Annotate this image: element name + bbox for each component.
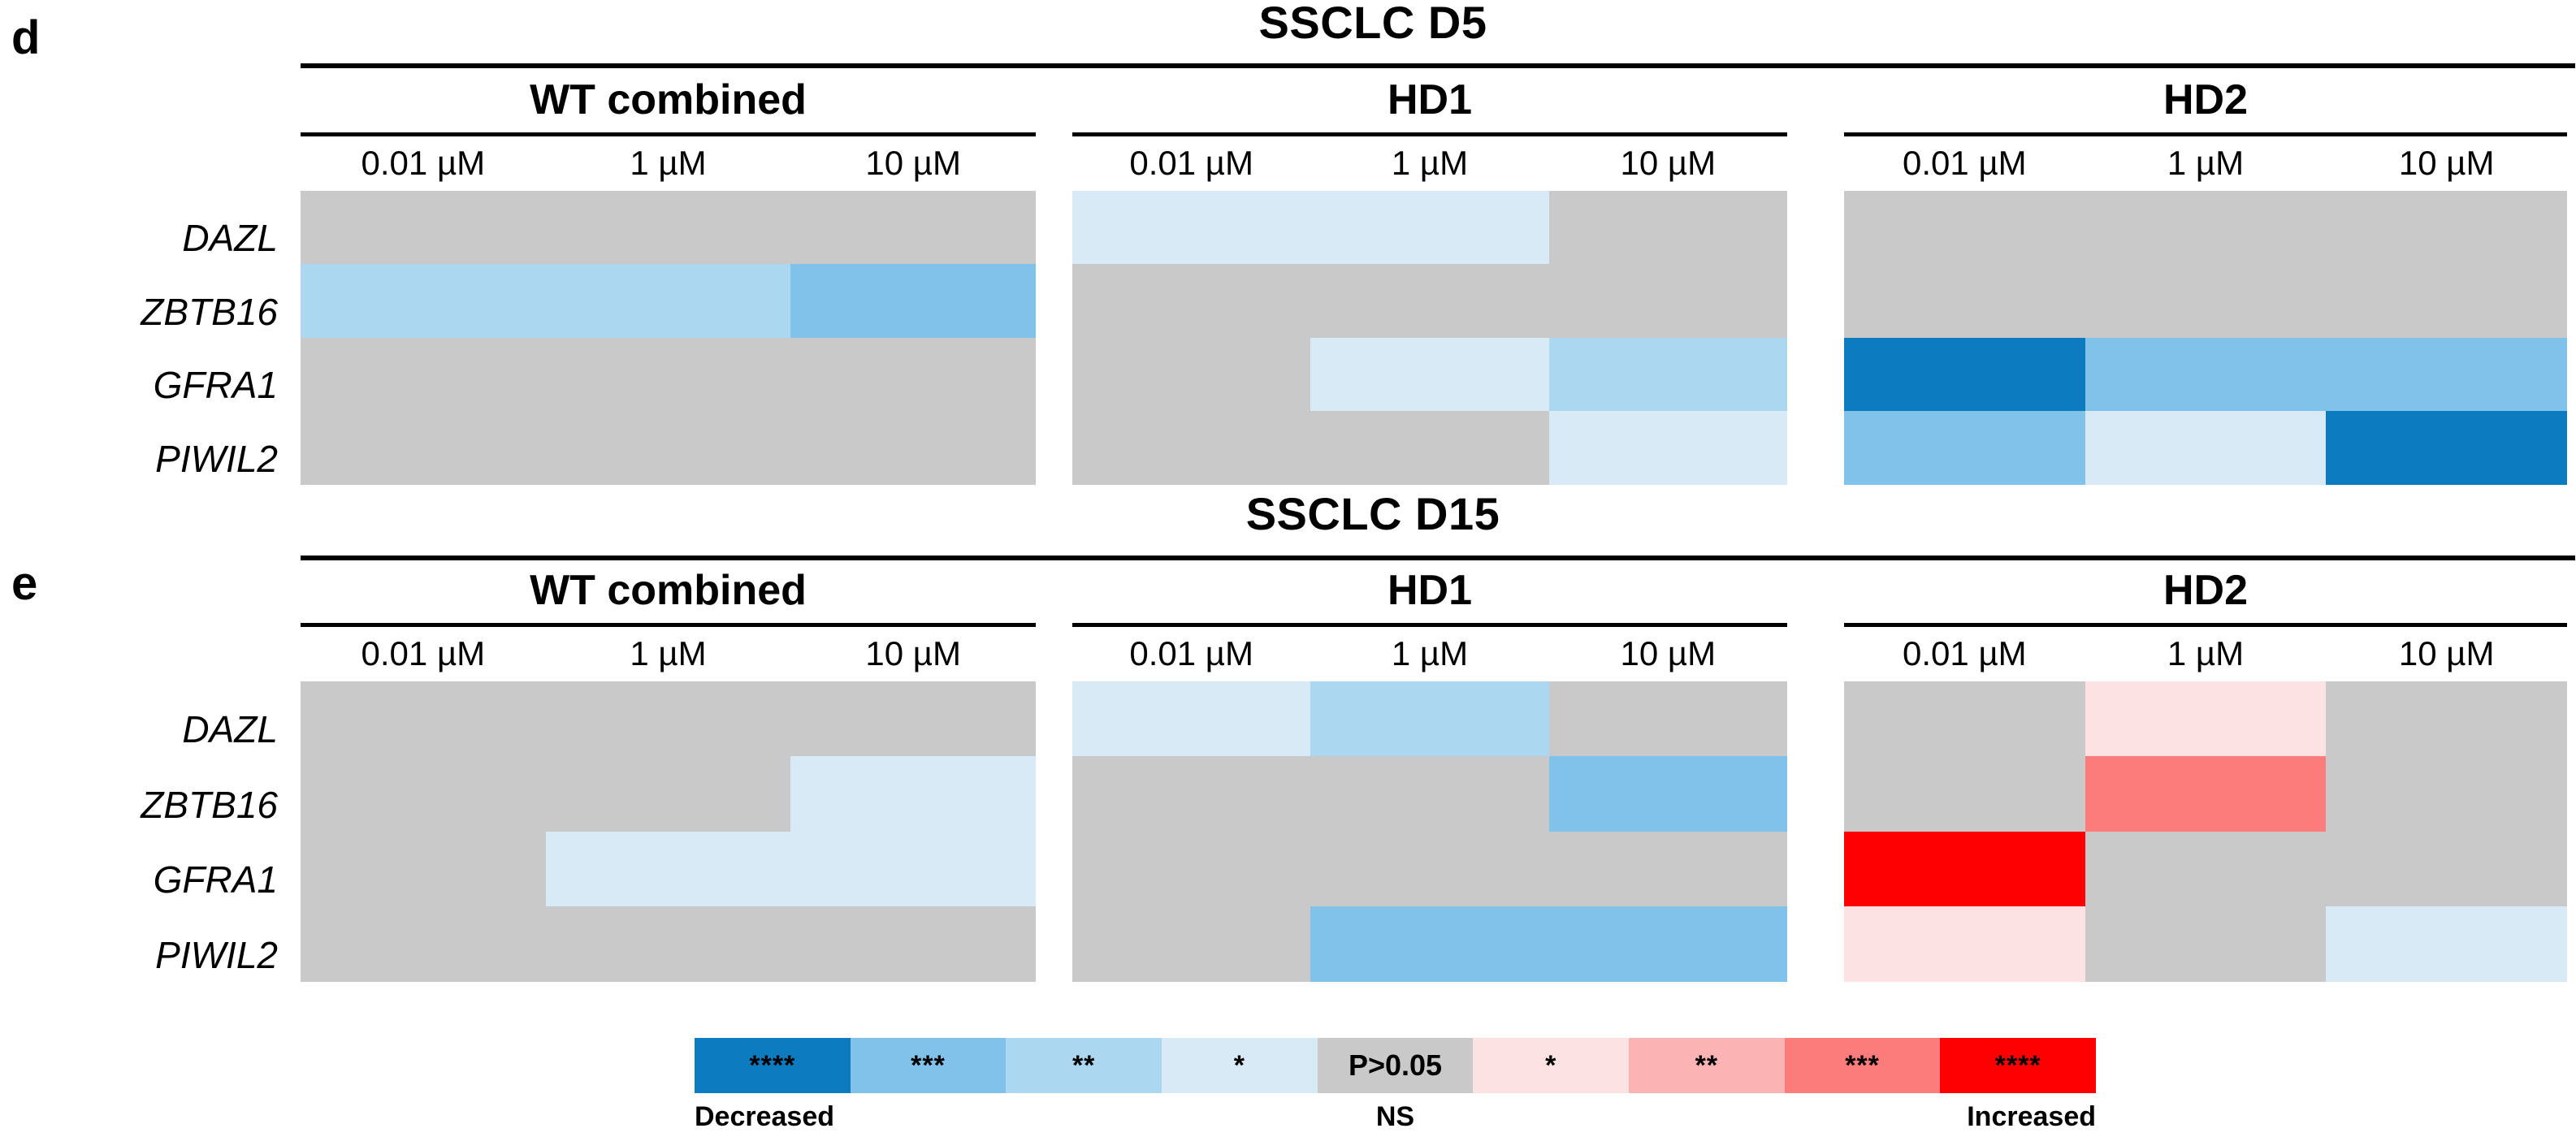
- legend-caption-row: DecreasedNSIncreased: [695, 1103, 2096, 1137]
- subpanel-title-hd1: HD1: [1072, 568, 1787, 613]
- panel-letter-d: d: [11, 15, 40, 62]
- heatmap-cell: [1072, 906, 1310, 982]
- heatmap-cell: [790, 338, 1036, 412]
- legend-swatch-inc4: ****: [1940, 1038, 2096, 1093]
- gene-label-piwil2: PIWIL2: [49, 918, 292, 993]
- subpanel-rule: [1072, 132, 1787, 136]
- legend-swatch-dec4: ****: [695, 1038, 851, 1093]
- heatmap-cell: [1549, 191, 1787, 265]
- heatmap-cell: [546, 756, 791, 832]
- subpanel-d-hd2: HD20.01 µM1 µM10 µM: [1844, 78, 2567, 485]
- heatmap-cell: [2085, 906, 2327, 982]
- heatmap-e-wt-combined: [301, 681, 1036, 982]
- heatmap-cell: [2085, 681, 2327, 757]
- heatmap-cell: [1072, 756, 1310, 832]
- heatmap-cell: [546, 338, 791, 412]
- dose-label-1: 1 µM: [2085, 635, 2327, 672]
- heatmap-cell: [546, 264, 791, 338]
- legend-swatch-inc3: ***: [1785, 1038, 1941, 1093]
- heatmap-cell: [546, 411, 791, 485]
- subpanel-title-hd1: HD1: [1072, 78, 1787, 123]
- group-rule-d: [301, 63, 2575, 68]
- heatmap-cell: [301, 191, 546, 265]
- heatmap-cell: [1072, 338, 1310, 412]
- subpanel-e-hd1: HD10.01 µM1 µM10 µM: [1072, 568, 1787, 982]
- gene-label-dazl: DAZL: [49, 201, 292, 275]
- heatmap-cell: [2326, 338, 2567, 412]
- heatmap-cell: [1549, 264, 1787, 338]
- gene-label-column-e: DAZLZBTB16GFRA1PIWIL2: [49, 692, 292, 992]
- gene-label-column-d: DAZLZBTB16GFRA1PIWIL2: [49, 201, 292, 495]
- subpanel-rule: [1844, 132, 2567, 136]
- heatmap-cell: [1549, 756, 1787, 832]
- heatmap-cell: [1072, 411, 1310, 485]
- heatmap-cell: [301, 411, 546, 485]
- heatmap-cell: [1310, 264, 1548, 338]
- subpanel-title-wt-combined: WT combined: [301, 78, 1036, 123]
- legend-swatch-dec2: **: [1006, 1038, 1162, 1093]
- heatmap-cell: [2326, 906, 2567, 982]
- figure-root: dSSCLC D5DAZLZBTB16GFRA1PIWIL2WT combine…: [0, 0, 2576, 1137]
- subpanel-d-wt-combined: WT combined0.01 µM1 µM10 µM: [301, 78, 1036, 485]
- heatmap-d-wt-combined: [301, 191, 1036, 485]
- heatmap-cell: [790, 411, 1036, 485]
- gene-label-gfra1: GFRA1: [49, 348, 292, 422]
- subpanel-title-hd2: HD2: [1844, 568, 2567, 613]
- heatmap-cell: [2085, 191, 2327, 265]
- heatmap-cell: [546, 832, 791, 907]
- heatmap-cell: [1310, 756, 1548, 832]
- group-rule-e: [301, 556, 2575, 560]
- heatmap-cell: [1072, 681, 1310, 757]
- heatmap-cell: [2085, 264, 2327, 338]
- heatmap-d-hd1: [1072, 191, 1787, 485]
- legend: **********P>0.05**********DecreasedNSInc…: [695, 1038, 2096, 1137]
- dose-label-2: 10 µM: [2326, 145, 2567, 182]
- heatmap-cell: [1310, 906, 1548, 982]
- legend-caption-increased: Increased: [1967, 1103, 2096, 1131]
- dose-label-1: 1 µM: [1310, 635, 1548, 672]
- dose-label-1: 1 µM: [546, 635, 791, 672]
- heatmap-cell: [2326, 191, 2567, 265]
- heatmap-cell: [2085, 338, 2327, 412]
- heatmap-cell: [1310, 191, 1548, 265]
- dose-label-row: 0.01 µM1 µM10 µM: [1072, 145, 1787, 182]
- heatmap-cell: [2326, 756, 2567, 832]
- heatmap-cell: [546, 906, 791, 982]
- dose-label-2: 10 µM: [1549, 635, 1787, 672]
- subpanel-rule: [301, 623, 1036, 627]
- heatmap-cell: [2085, 756, 2327, 832]
- subpanel-d-hd1: HD10.01 µM1 µM10 µM: [1072, 78, 1787, 485]
- heatmap-cell: [546, 191, 791, 265]
- dose-label-0: 0.01 µM: [1072, 635, 1310, 672]
- group-title-d: SSCLC D5: [967, 0, 1779, 45]
- subpanel-rule: [1844, 623, 2567, 627]
- dose-label-0: 0.01 µM: [301, 635, 546, 672]
- legend-swatch-dec3: ***: [851, 1038, 1007, 1093]
- legend-swatch-inc2: **: [1629, 1038, 1785, 1093]
- heatmap-cell: [1549, 411, 1787, 485]
- heatmap-cell: [790, 906, 1036, 982]
- heatmap-cell: [301, 832, 546, 907]
- heatmap-cell: [1549, 832, 1787, 907]
- heatmap-cell: [1549, 338, 1787, 412]
- dose-label-0: 0.01 µM: [1072, 145, 1310, 182]
- heatmap-cell: [1310, 681, 1548, 757]
- heatmap-cell: [2326, 681, 2567, 757]
- heatmap-cell: [1844, 906, 2085, 982]
- heatmap-cell: [1844, 681, 2085, 757]
- dose-label-0: 0.01 µM: [301, 145, 546, 182]
- heatmap-cell: [790, 191, 1036, 265]
- dose-label-row: 0.01 µM1 µM10 µM: [301, 145, 1036, 182]
- dose-label-row: 0.01 µM1 µM10 µM: [301, 635, 1036, 672]
- heatmap-cell: [1844, 264, 2085, 338]
- heatmap-cell: [2085, 832, 2327, 907]
- dose-label-row: 0.01 µM1 µM10 µM: [1844, 145, 2567, 182]
- heatmap-cell: [546, 681, 791, 757]
- heatmap-cell: [1310, 338, 1548, 412]
- legend-swatch-inc1: *: [1473, 1038, 1629, 1093]
- heatmap-cell: [301, 906, 546, 982]
- heatmap-e-hd1: [1072, 681, 1787, 982]
- gene-label-piwil2: PIWIL2: [49, 422, 292, 496]
- heatmap-cell: [790, 681, 1036, 757]
- heatmap-cell: [790, 264, 1036, 338]
- heatmap-cell: [1549, 681, 1787, 757]
- dose-label-1: 1 µM: [1310, 145, 1548, 182]
- subpanel-e-wt-combined: WT combined0.01 µM1 µM10 µM: [301, 568, 1036, 982]
- heatmap-cell: [1310, 832, 1548, 907]
- heatmap-cell: [790, 832, 1036, 907]
- dose-label-0: 0.01 µM: [1844, 145, 2085, 182]
- heatmap-cell: [2085, 411, 2327, 485]
- dose-label-2: 10 µM: [2326, 635, 2567, 672]
- heatmap-cell: [1072, 832, 1310, 907]
- heatmap-cell: [301, 338, 546, 412]
- heatmap-cell: [2326, 264, 2567, 338]
- heatmap-cell: [1844, 832, 2085, 907]
- heatmap-cell: [1844, 338, 2085, 412]
- heatmap-cell: [1844, 191, 2085, 265]
- group-title-e: SSCLC D15: [967, 491, 1779, 537]
- dose-label-row: 0.01 µM1 µM10 µM: [1072, 635, 1787, 672]
- heatmap-e-hd2: [1844, 681, 2567, 982]
- dose-label-1: 1 µM: [2085, 145, 2327, 182]
- heatmap-cell: [2326, 411, 2567, 485]
- subpanel-rule: [301, 132, 1036, 136]
- heatmap-d-hd2: [1844, 191, 2567, 485]
- heatmap-cell: [1072, 191, 1310, 265]
- dose-label-1: 1 µM: [546, 145, 791, 182]
- legend-swatch-row: **********P>0.05**********: [695, 1038, 2096, 1093]
- heatmap-cell: [1310, 411, 1548, 485]
- heatmap-cell: [301, 756, 546, 832]
- panel-letter-e: e: [11, 560, 37, 607]
- heatmap-cell: [2326, 832, 2567, 907]
- heatmap-cell: [1072, 264, 1310, 338]
- gene-label-zbtb16: ZBTB16: [49, 275, 292, 349]
- subpanel-rule: [1072, 623, 1787, 627]
- dose-label-2: 10 µM: [790, 635, 1036, 672]
- legend-swatch-NS: P>0.05: [1318, 1038, 1474, 1093]
- heatmap-cell: [301, 264, 546, 338]
- subpanel-e-hd2: HD20.01 µM1 µM10 µM: [1844, 568, 2567, 982]
- heatmap-cell: [301, 681, 546, 757]
- gene-label-dazl: DAZL: [49, 692, 292, 767]
- gene-label-gfra1: GFRA1: [49, 842, 292, 918]
- dose-label-row: 0.01 µM1 µM10 µM: [1844, 635, 2567, 672]
- legend-caption-ns: NS: [1376, 1103, 1414, 1131]
- dose-label-2: 10 µM: [1549, 145, 1787, 182]
- legend-caption-decreased: Decreased: [695, 1103, 834, 1131]
- heatmap-cell: [790, 756, 1036, 832]
- dose-label-0: 0.01 µM: [1844, 635, 2085, 672]
- subpanel-title-hd2: HD2: [1844, 78, 2567, 123]
- legend-swatch-dec1: *: [1162, 1038, 1318, 1093]
- gene-label-zbtb16: ZBTB16: [49, 767, 292, 843]
- heatmap-cell: [1549, 906, 1787, 982]
- heatmap-cell: [1844, 756, 2085, 832]
- heatmap-cell: [1844, 411, 2085, 485]
- dose-label-2: 10 µM: [790, 145, 1036, 182]
- subpanel-title-wt-combined: WT combined: [301, 568, 1036, 613]
